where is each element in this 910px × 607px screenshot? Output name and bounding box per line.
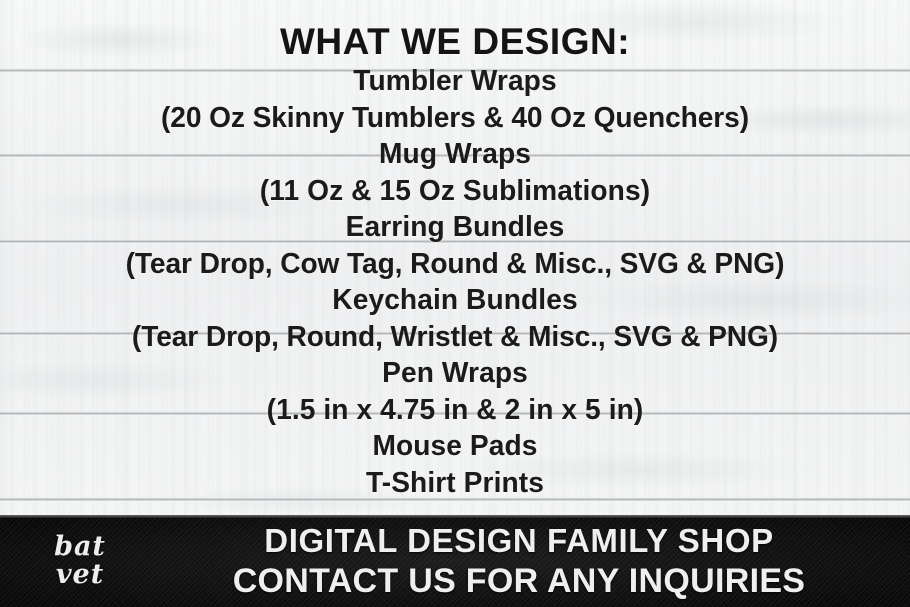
list-item: Mouse Pads [14,428,897,465]
list-item: (1.5 in x 4.75 in & 2 in x 5 in) [14,392,897,429]
logo-line-1: bat [10,533,150,561]
design-list-block: WHAT WE DESIGN: Tumbler Wraps (20 Oz Ski… [0,0,910,515]
logo-line-2: vet [10,561,150,589]
poster-canvas: WHAT WE DESIGN: Tumbler Wraps (20 Oz Ski… [0,0,910,607]
banner-headline: DIGITAL DESIGN FAMILY SHOP [150,521,888,561]
list-item: (Tear Drop, Round, Wristlet & Misc., SVG… [14,319,897,356]
page-title: WHAT WE DESIGN: [0,0,910,63]
brand-logo: bat vet [0,533,150,589]
list-item: (20 Oz Skinny Tumblers & 40 Oz Quenchers… [14,100,897,137]
banner-subline: CONTACT US FOR ANY INQUIRIES [150,561,888,601]
list-item: Pen Wraps [14,355,897,392]
banner-content: bat vet DIGITAL DESIGN FAMILY SHOP CONTA… [0,515,910,607]
banner-text-group: DIGITAL DESIGN FAMILY SHOP CONTACT US FO… [150,521,910,601]
list-item: (11 Oz & 15 Oz Sublimations) [14,173,897,210]
list-item: Keychain Bundles [14,282,897,319]
list-item: Tumbler Wraps [14,63,897,100]
footer-banner: bat vet DIGITAL DESIGN FAMILY SHOP CONTA… [0,515,910,607]
list-item: Mug Wraps [14,136,897,173]
list-item: (Tear Drop, Cow Tag, Round & Misc., SVG … [14,246,897,283]
list-item: T-Shirt Prints [14,465,897,502]
list-item: Earring Bundles [14,209,897,246]
